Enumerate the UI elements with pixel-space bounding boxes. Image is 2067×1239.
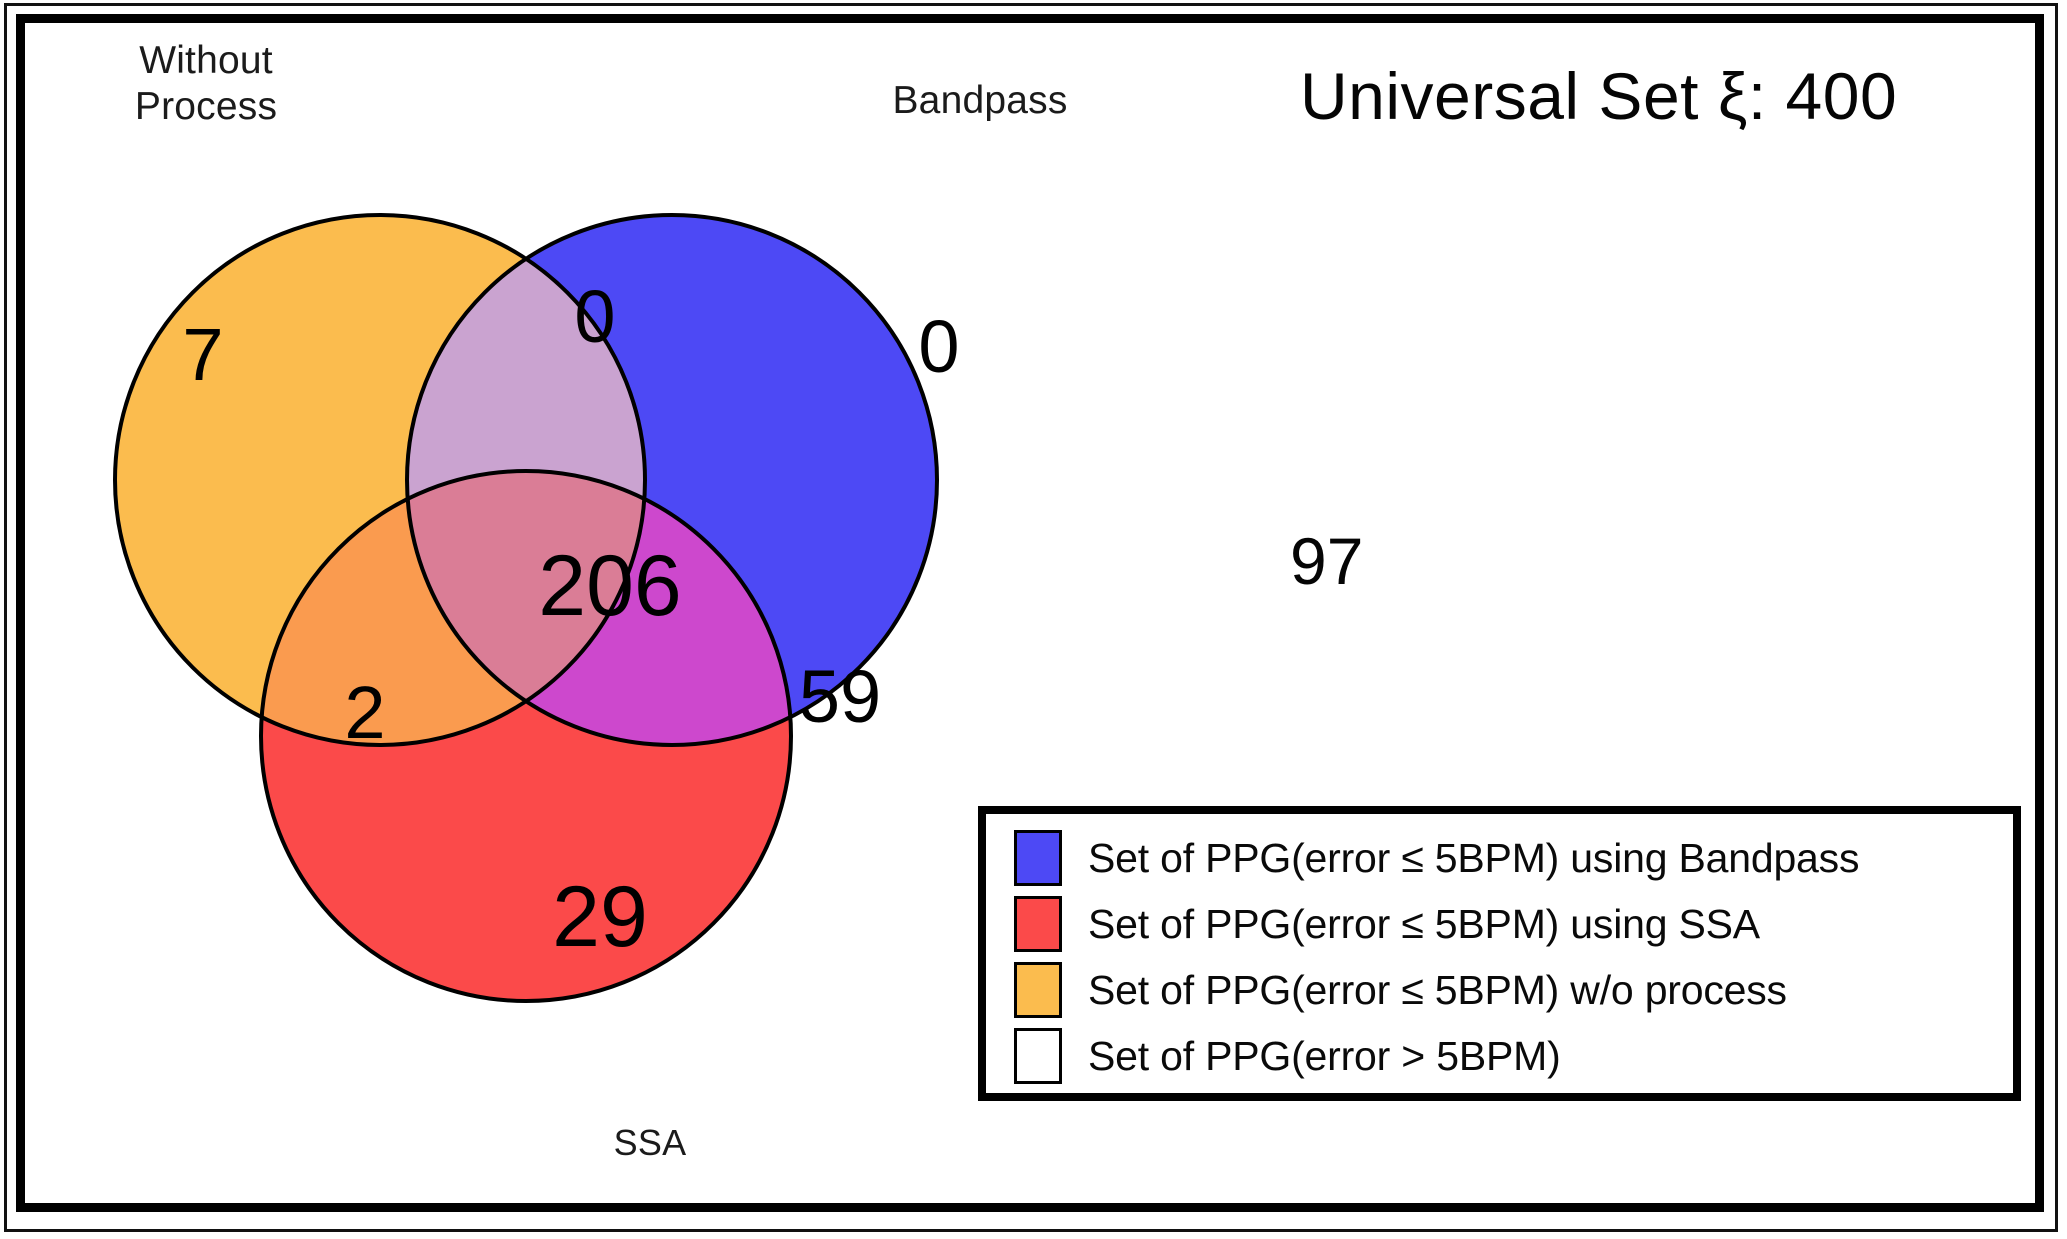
legend-item-without-process: Set of PPG(error ≤ 5BPM) w/o process (1014, 958, 2005, 1022)
legend: Set of PPG(error ≤ 5BPM) using Bandpass … (978, 806, 2021, 1101)
legend-label-without-process: Set of PPG(error ≤ 5BPM) w/o process (1088, 967, 1787, 1014)
count-all-three: 206 (500, 543, 720, 629)
count-bandpass-only: 0 (884, 310, 994, 384)
count-without-process-bandpass: 0 (540, 280, 650, 354)
count-ssa-only: 29 (510, 874, 690, 960)
legend-label-bandpass: Set of PPG(error ≤ 5BPM) using Bandpass (1088, 835, 1859, 882)
count-without-process-only: 7 (148, 318, 258, 392)
legend-swatch-bandpass (1014, 830, 1062, 886)
set-label-without-process: Without Process (86, 38, 326, 130)
count-without-process-ssa: 2 (310, 676, 420, 750)
legend-item-ssa: Set of PPG(error ≤ 5BPM) using SSA (1014, 892, 2005, 956)
count-bandpass-ssa: 59 (760, 660, 920, 734)
set-label-bandpass: Bandpass (820, 78, 1140, 124)
legend-item-outside: Set of PPG(error > 5BPM) (1014, 1024, 2005, 1088)
count-outside: 97 (1290, 523, 1363, 599)
set-label-ssa: SSA (500, 1122, 800, 1164)
legend-swatch-outside (1014, 1028, 1062, 1084)
universal-set-title: Universal Set ξ: 400 (1300, 58, 1897, 134)
legend-label-outside: Set of PPG(error > 5BPM) (1088, 1033, 1561, 1080)
legend-swatch-without-process (1014, 962, 1062, 1018)
legend-item-bandpass: Set of PPG(error ≤ 5BPM) using Bandpass (1014, 826, 2005, 890)
legend-swatch-ssa (1014, 896, 1062, 952)
figure-canvas: 7 0 0 206 2 59 29 Without Process Bandpa… (0, 0, 2067, 1239)
legend-label-ssa: Set of PPG(error ≤ 5BPM) using SSA (1088, 901, 1760, 948)
